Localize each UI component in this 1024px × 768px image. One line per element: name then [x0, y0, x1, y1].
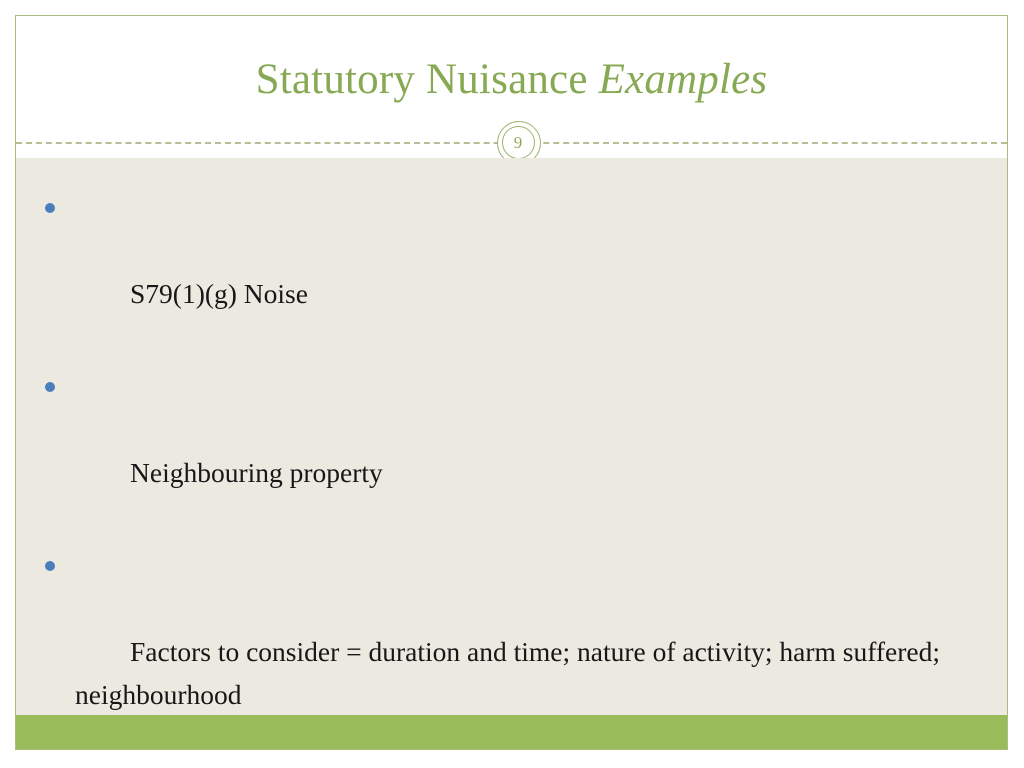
bullet-dot-icon [45, 382, 55, 392]
page-title-emphasis: Examples [599, 56, 768, 103]
slide-body: S79(1)(g) Noise Neighbouring property Fa… [16, 158, 1007, 715]
bullet-dot-icon [45, 561, 55, 571]
page-number-label: 9 [502, 126, 535, 159]
slide: Statutory Nuisance Examples 9 S79(1)(g) … [15, 15, 1008, 750]
list-item-text: Neighbouring property [130, 457, 383, 488]
bullet-list: S79(1)(g) Noise Neighbouring property Fa… [16, 186, 1007, 750]
list-item: Neighbouring property [16, 365, 946, 537]
page-title: Statutory Nuisance Examples [16, 54, 1007, 106]
page-title-main: Statutory Nuisance [256, 56, 599, 103]
bullet-dot-icon [45, 203, 55, 213]
list-item-text: S79(1)(g) Noise [130, 278, 308, 309]
footer-accent-bar [16, 715, 1007, 749]
list-item-text: Factors to consider = duration and time;… [75, 636, 947, 710]
list-item: S79(1)(g) Noise [16, 186, 946, 358]
